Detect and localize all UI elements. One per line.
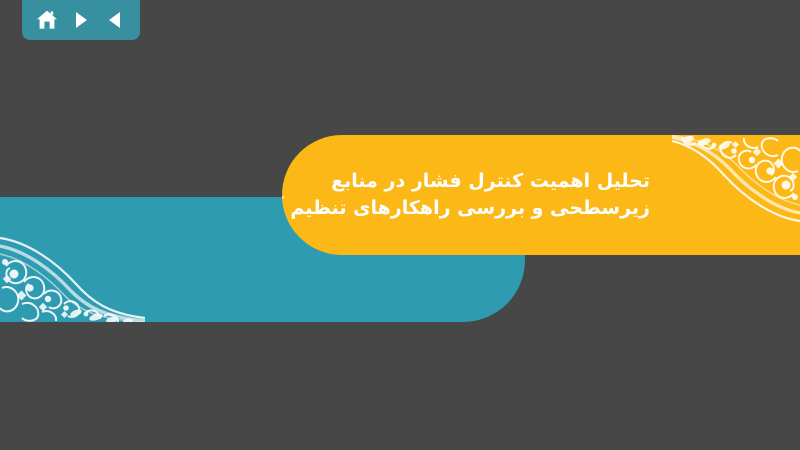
- slide-title: تحلیل اهمیت کنترل فشار در منابع زیرسطحی …: [282, 168, 650, 222]
- navigation-toolbar: [22, 0, 140, 40]
- forward-button[interactable]: [67, 6, 95, 34]
- yellow-title-panel: تحلیل اهمیت کنترل فشار در منابع زیرسطحی …: [282, 135, 800, 255]
- title-line-1: تحلیل اهمیت کنترل فشار در منابع: [282, 168, 650, 195]
- slide-canvas: تحلیل اهمیت کنترل فشار در منابع زیرسطحی …: [0, 0, 800, 450]
- arabesque-corner-ornament: [0, 204, 145, 322]
- home-button[interactable]: [33, 6, 61, 34]
- back-button[interactable]: [101, 6, 129, 34]
- arabesque-corner-ornament: [672, 135, 800, 255]
- home-icon: [35, 8, 59, 32]
- triangle-right-icon: [70, 9, 92, 31]
- title-line-2: زیرسطحی و بررسی راهکارهای تنظیم آن: [282, 195, 650, 222]
- triangle-left-icon: [104, 9, 126, 31]
